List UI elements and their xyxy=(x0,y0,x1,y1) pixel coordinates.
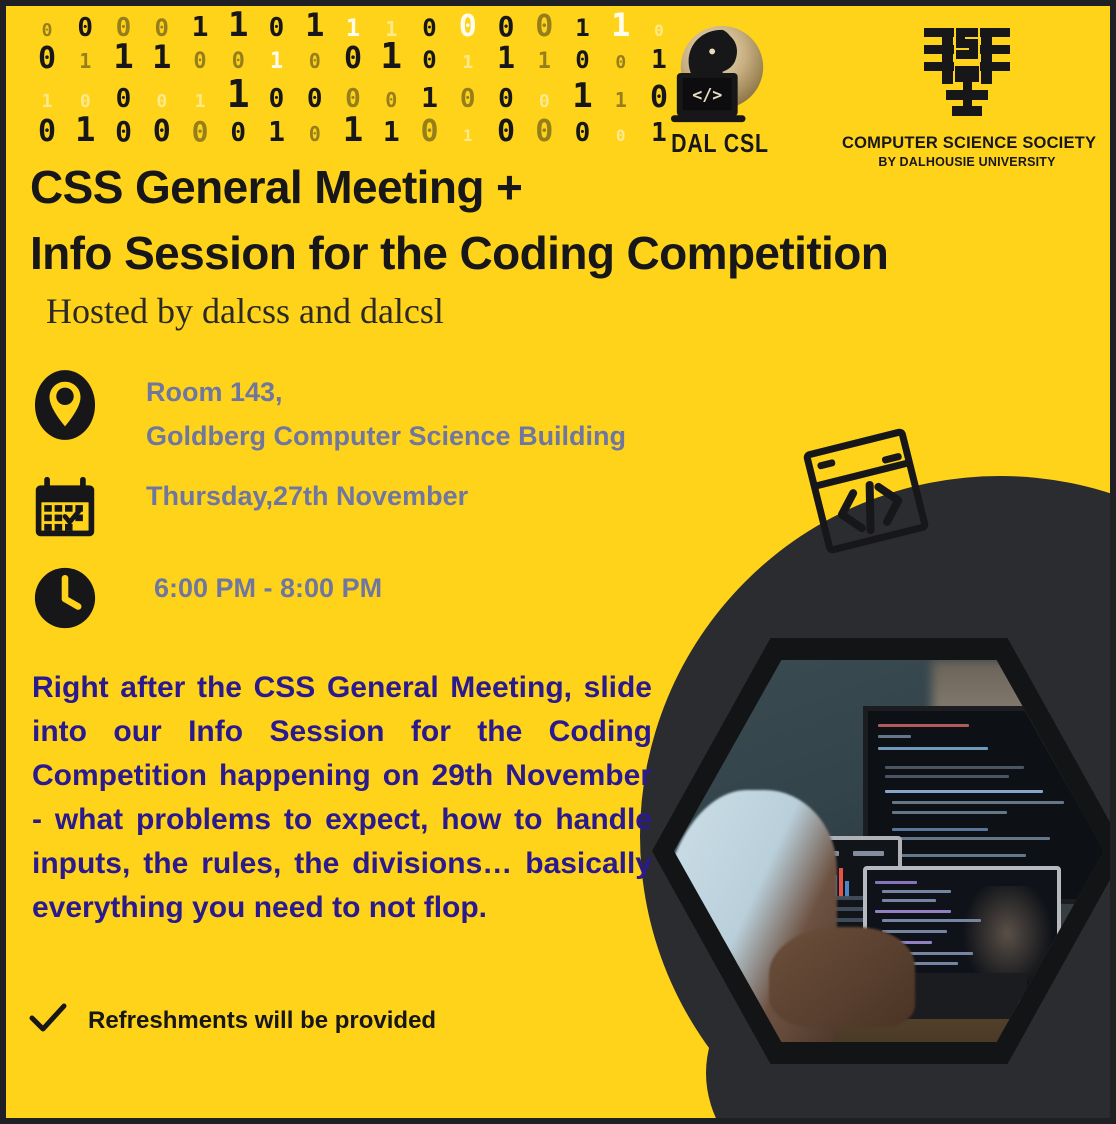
binary-digit: 0 xyxy=(606,128,636,144)
binary-digit: 1 xyxy=(453,54,483,72)
binary-digit: 1 xyxy=(262,118,292,146)
binary-digit: 1 xyxy=(376,118,406,146)
binary-digit: 0 xyxy=(223,51,253,73)
date-text: Thursday,27th November xyxy=(100,474,468,518)
binary-digit: 0 xyxy=(223,120,253,146)
binary-digit: 0 xyxy=(300,86,330,112)
location-text: Room 143, Goldberg Computer Science Buil… xyxy=(100,370,626,458)
binary-digit: 0 xyxy=(529,117,559,147)
binary-digit: 0 xyxy=(147,16,177,40)
page-title: CSS General Meeting + Info Session for t… xyxy=(30,154,1040,286)
binary-row: 10001100001000110 xyxy=(20,75,680,113)
detail-row-date: Thursday,27th November xyxy=(30,474,626,540)
binary-digit: 0 xyxy=(415,117,445,147)
binary-digit: 1 xyxy=(223,8,253,42)
binary-digit: 0 xyxy=(568,120,598,146)
photo-person-hand xyxy=(769,927,915,1026)
binary-row: 01110010010111001 xyxy=(20,39,680,75)
binary-digit: 1 xyxy=(223,75,253,113)
binary-digit: 0 xyxy=(185,51,215,73)
binary-digit: 0 xyxy=(147,117,177,147)
hosted-by-label: Hosted by dalcss and dalcsl xyxy=(46,290,444,332)
binary-digit: 0 xyxy=(32,44,62,74)
binary-digit: 0 xyxy=(338,44,368,74)
binary-digit: 0 xyxy=(185,118,215,146)
binary-digit: 0 xyxy=(491,13,521,41)
dal-csl-logo: </> DAL CSL xyxy=(654,22,786,159)
detail-row-location: Room 143, Goldberg Computer Science Buil… xyxy=(30,370,626,458)
binary-digit: 1 xyxy=(70,51,100,71)
binary-digit: 0 xyxy=(453,12,483,42)
binary-digit: 0 xyxy=(415,16,445,40)
binary-digit: 0 xyxy=(32,22,62,40)
binary-digit: 0 xyxy=(300,51,330,71)
binary-digit: 0 xyxy=(606,54,636,72)
binary-digit: 0 xyxy=(338,86,368,112)
binary-digit: 1 xyxy=(70,113,100,147)
headline-line-2: Info Session for the Coding Competition xyxy=(30,220,1040,286)
binary-digit: 1 xyxy=(491,44,521,74)
poster-canvas: 0000110111000011001110010010111001100011… xyxy=(6,6,1110,1118)
binary-digit: 1 xyxy=(453,128,483,144)
binary-digit: 1 xyxy=(568,79,598,113)
refreshments-note: Refreshments will be provided xyxy=(28,1001,436,1040)
binary-digit: 1 xyxy=(568,16,598,40)
binary-digit: 0 xyxy=(491,117,521,147)
binary-digit: 1 xyxy=(300,9,330,41)
binary-digit: 1 xyxy=(32,93,62,111)
binary-digit: 1 xyxy=(376,39,406,75)
binary-digit: 0 xyxy=(32,117,62,147)
binary-digit: 0 xyxy=(529,12,559,42)
headline-line-1: CSS General Meeting + xyxy=(30,154,1040,220)
refreshments-label: Refreshments will be provided xyxy=(88,1007,436,1035)
location-pin-icon xyxy=(30,370,100,440)
binary-digit: 0 xyxy=(491,86,521,112)
binary-digit: 1 xyxy=(338,16,368,40)
detail-row-time: 6:00 PM - 8:00 PM xyxy=(30,566,626,630)
code-window-icon xyxy=(801,426,931,561)
location-line-2: Goldberg Computer Science Building xyxy=(146,414,626,458)
binary-row: 00001101110000110 xyxy=(20,8,680,39)
time-text: 6:00 PM - 8:00 PM xyxy=(100,566,382,610)
binary-row: 01000010110100001 xyxy=(20,113,680,149)
location-line-1: Room 143, xyxy=(146,370,626,414)
eagle-laptop-icon: </> xyxy=(661,22,779,126)
binary-digit: 0 xyxy=(109,86,139,112)
css-society-logo: COMPUTER SCIENCE SOCIETY BY DALHOUSIE UN… xyxy=(842,22,1092,169)
binary-digit: 0 xyxy=(415,48,445,72)
binary-digit: 1 xyxy=(529,51,559,73)
svg-text:</>: </> xyxy=(692,85,722,104)
binary-digit: 0 xyxy=(262,15,292,41)
binary-digit: 1 xyxy=(185,13,215,41)
binary-digit: 0 xyxy=(453,86,483,112)
binary-digit: 1 xyxy=(606,90,636,110)
binary-digit: 1 xyxy=(415,84,445,112)
binary-digit: 0 xyxy=(70,15,100,41)
binary-digit: 0 xyxy=(376,90,406,110)
binary-digit: 0 xyxy=(262,86,292,112)
poster-root: 0000110111000011001110010010111001100011… xyxy=(0,0,1116,1124)
calendar-icon xyxy=(30,474,100,540)
binary-digit: 1 xyxy=(109,40,139,74)
css-chip-icon xyxy=(912,22,1022,126)
binary-banner: 0000110111000011001110010010111001100011… xyxy=(20,8,680,149)
binary-digit: 1 xyxy=(147,41,177,73)
check-icon xyxy=(28,1001,68,1040)
hexagon-photo-frame xyxy=(652,638,1110,1064)
clock-icon xyxy=(30,566,100,630)
binary-digit: 0 xyxy=(147,93,177,111)
body-paragraph: Right after the CSS General Meeting, sli… xyxy=(32,666,652,930)
event-details: Room 143, Goldberg Computer Science Buil… xyxy=(30,370,626,646)
binary-digit: 0 xyxy=(529,93,559,111)
binary-digit: 1 xyxy=(338,113,368,147)
logo-group: </> DAL CSL xyxy=(654,22,1092,169)
binary-digit: 1 xyxy=(185,93,215,111)
binary-digit: 0 xyxy=(300,124,330,144)
binary-digit: 1 xyxy=(262,51,292,73)
binary-digit: 1 xyxy=(606,9,636,41)
css-society-name: COMPUTER SCIENCE SOCIETY xyxy=(842,134,1092,153)
binary-digit: 0 xyxy=(568,48,598,72)
binary-digit: 0 xyxy=(70,93,100,111)
binary-digit: 0 xyxy=(109,118,139,146)
